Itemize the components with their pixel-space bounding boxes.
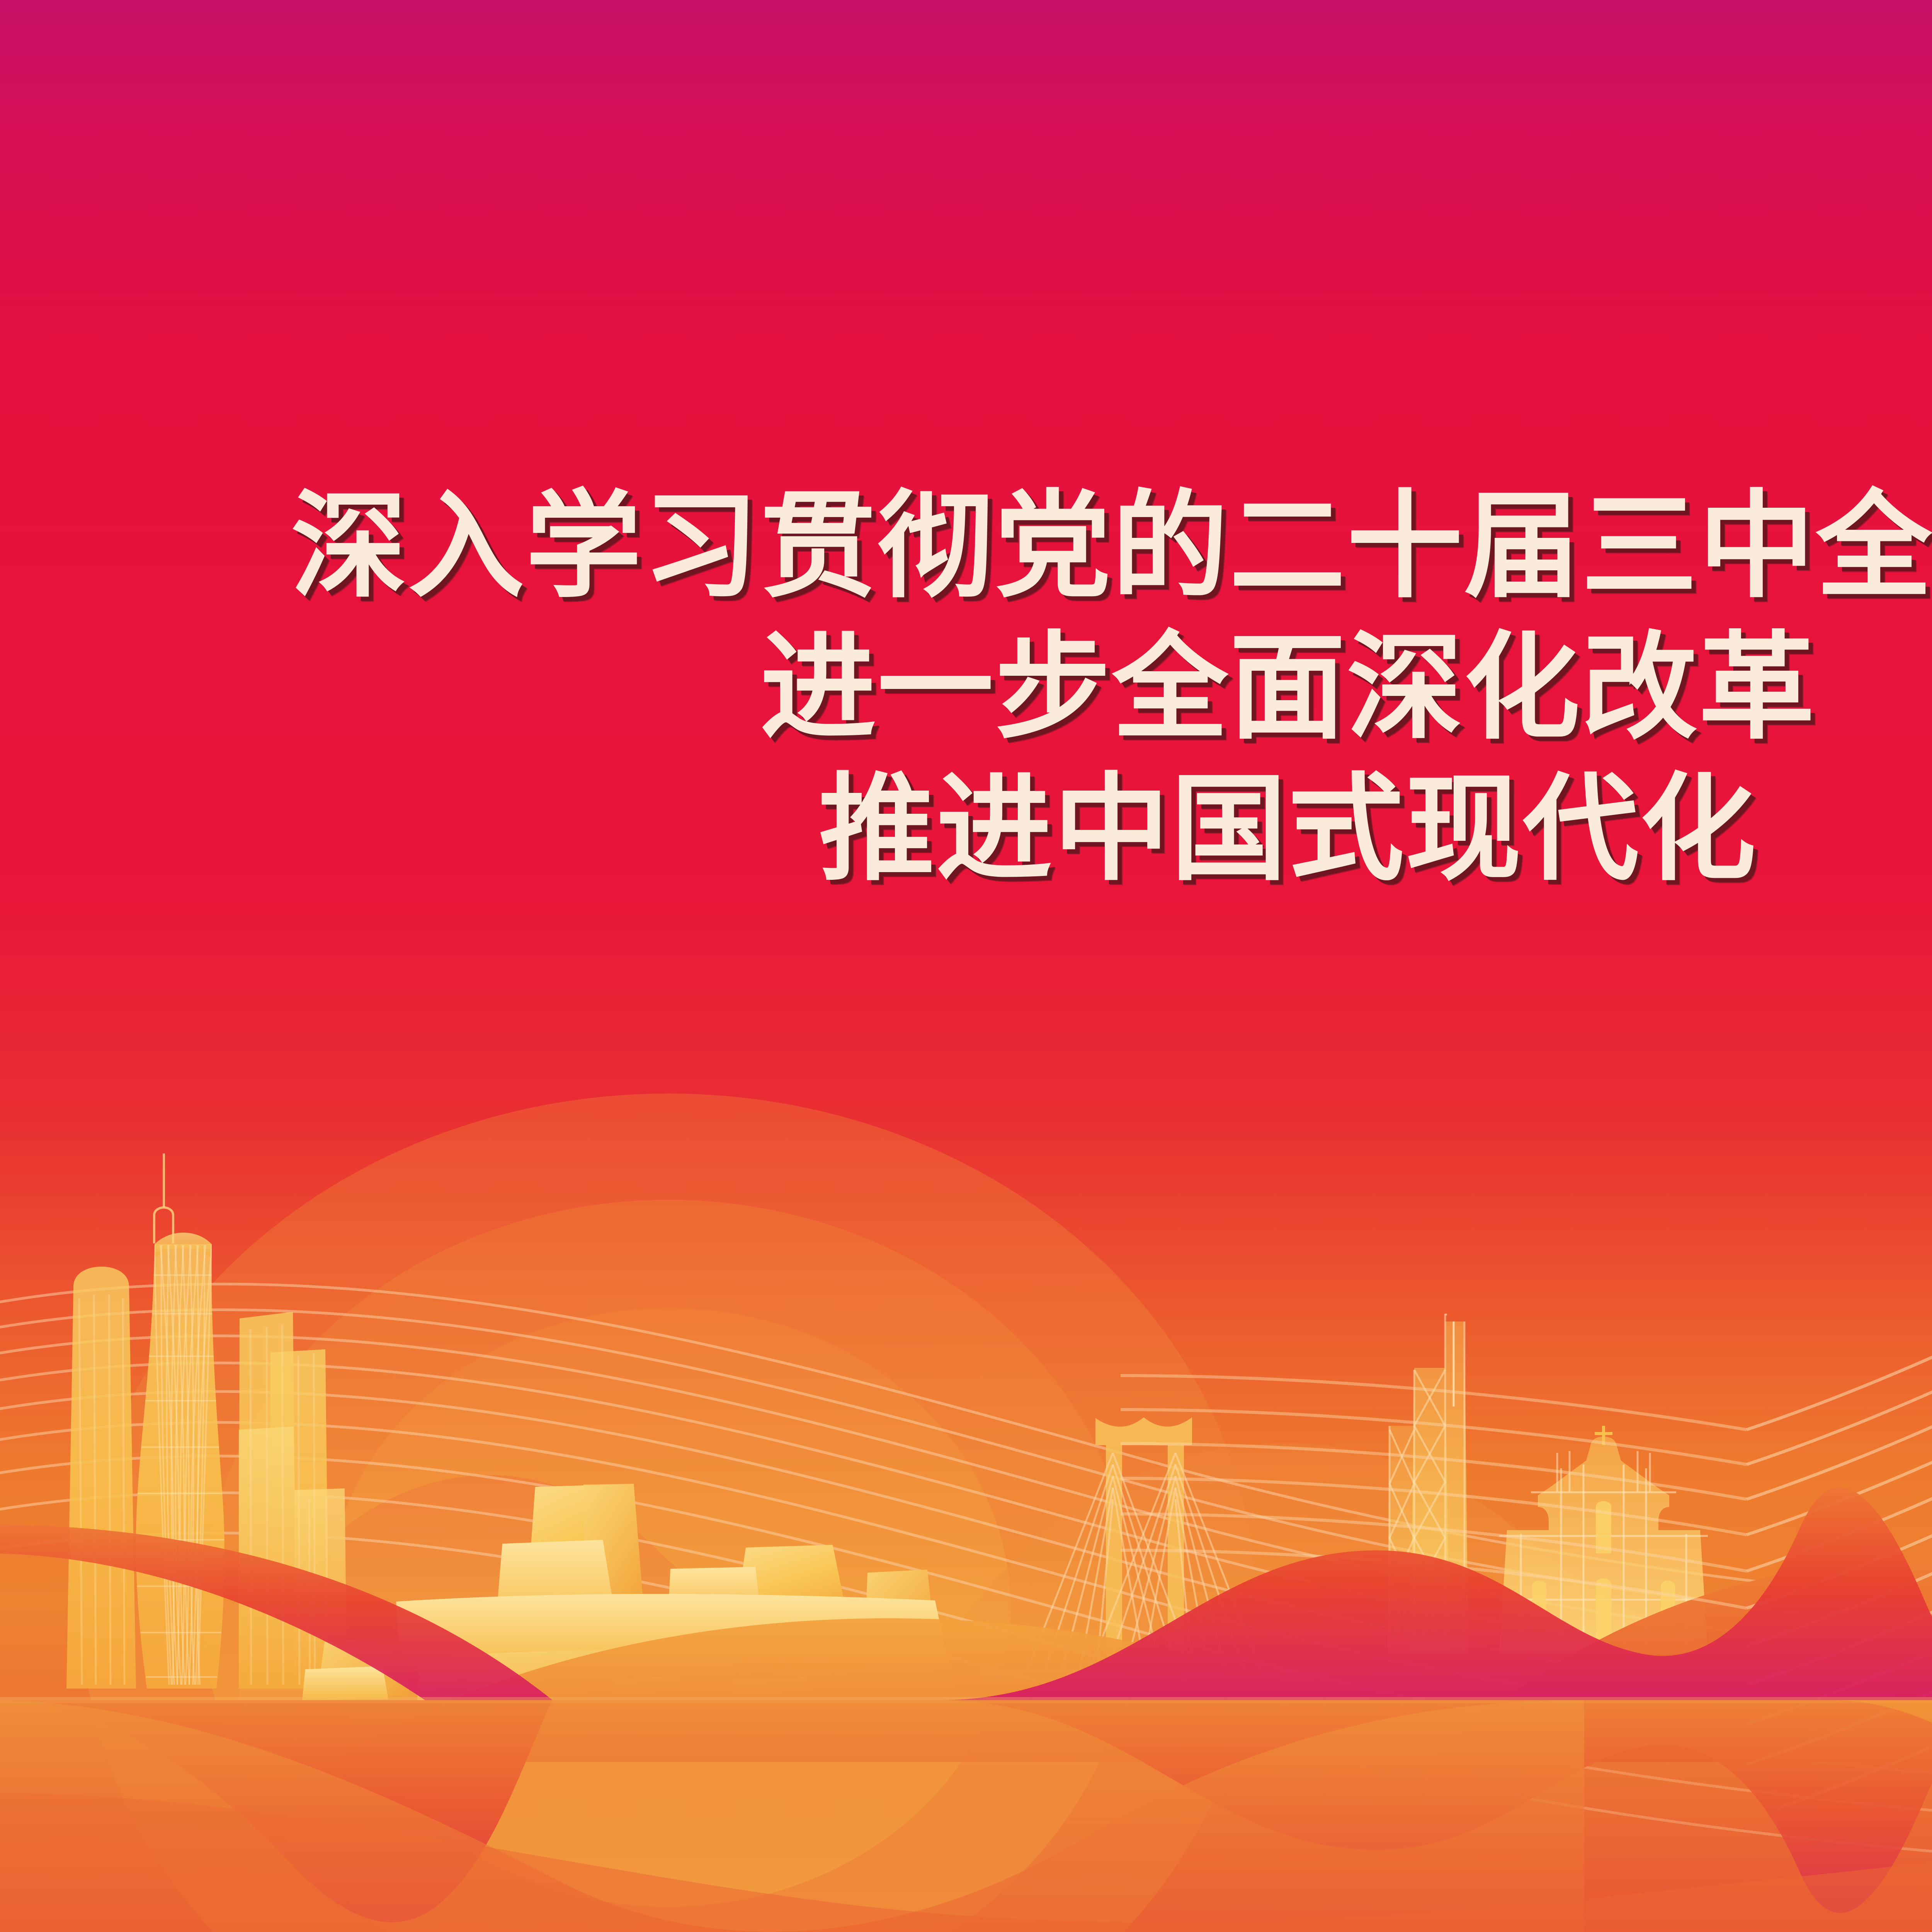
title-line-2: 进一步全面深化改革 [0,617,1932,758]
wave-crest-red [939,1487,1932,1700]
wave-band-layer [0,0,1932,1932]
sea-overlay [0,1700,1932,1932]
wave-crescent-left [0,1524,553,1700]
title-line-3: 推进中国式现代化 [0,758,1932,900]
poster-canvas: 深入学习贯彻党的二十届三中全会精神 进一步全面深化改革 推进中国式现代化 [0,0,1932,1932]
title-block: 深入学习贯彻党的二十届三中全会精神 进一步全面深化改革 推进中国式现代化 [0,475,1932,900]
title-line-1: 深入学习贯彻党的二十届三中全会精神 [0,475,1932,617]
